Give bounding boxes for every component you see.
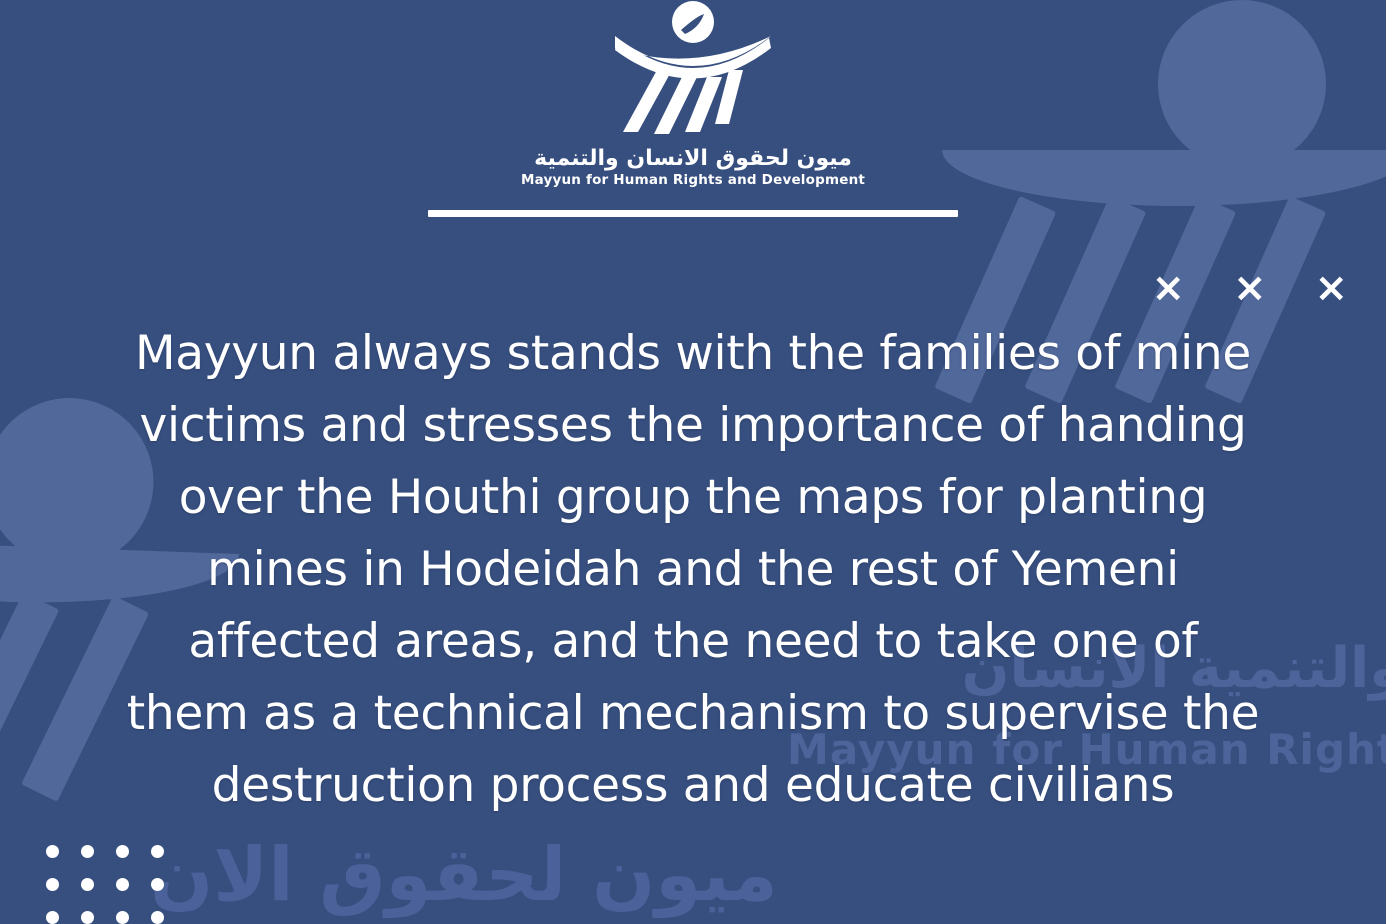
statement-text: Mayyun always stands with the families o…	[0, 318, 1386, 822]
watermark-text-arabic-bottom: ميون لحقوق الان	[150, 832, 778, 918]
brand-name-arabic: ميون لحقوق الانسان والتنمية	[0, 146, 1386, 171]
grid-dot	[116, 878, 129, 891]
grid-dot	[151, 911, 164, 924]
statement-line: Mayyun always stands with the families o…	[14, 318, 1372, 390]
x-mark-icon: ×	[1233, 268, 1267, 308]
grid-dot	[151, 878, 164, 891]
grid-dot	[46, 878, 59, 891]
grid-dot	[81, 911, 94, 924]
grid-dot	[81, 845, 94, 858]
statement-line: over the Houthi group the maps for plant…	[14, 462, 1372, 534]
statement-line: them as a technical mechanism to supervi…	[14, 678, 1372, 750]
social-media-statement-poster: والتنمية الانسان Mayyun for Human Right …	[0, 0, 1386, 924]
grid-dot	[46, 911, 59, 924]
grid-dot	[116, 845, 129, 858]
grid-dot	[116, 911, 129, 924]
grid-dot	[81, 878, 94, 891]
statement-line: mines in Hodeidah and the rest of Yemeni	[14, 534, 1372, 606]
x-marks-decoration: × × ×	[1151, 268, 1348, 308]
statement-line: affected areas, and the need to take one…	[14, 606, 1372, 678]
poster-header: ميون لحقوق الانسان والتنمية Mayyun for H…	[0, 0, 1386, 217]
x-mark-icon: ×	[1314, 268, 1348, 308]
grid-dot	[151, 845, 164, 858]
brand-name-latin: Mayyun for Human Rights and Development	[0, 172, 1386, 188]
x-mark-icon: ×	[1151, 268, 1185, 308]
header-divider	[428, 210, 958, 217]
dot-grid-decoration	[46, 845, 186, 924]
grid-dot	[46, 845, 59, 858]
mayyun-logo-icon	[603, 0, 783, 140]
statement-line: destruction process and educate civilian…	[14, 750, 1372, 822]
statement-line: victims and stresses the importance of h…	[14, 390, 1372, 462]
